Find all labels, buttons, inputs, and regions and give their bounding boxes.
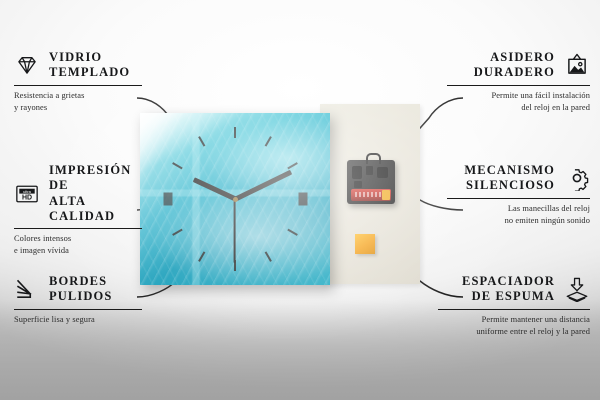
clock-mechanism <box>347 160 395 204</box>
title-rule <box>447 85 590 86</box>
feature-title: ESPACIADOR DE ESPUMA <box>462 274 555 305</box>
feature-espaciador-de-espuma: ESPACIADOR DE ESPUMA Permite mantener un… <box>438 274 590 338</box>
feature-subtitle: Permite una fácil instalación del reloj … <box>447 90 590 114</box>
foam-spacer-icon <box>564 276 590 302</box>
feature-title: VIDRIO TEMPLADO <box>49 50 130 81</box>
title-rule <box>447 198 590 199</box>
feature-subtitle: Resistencia a grietas y rayones <box>14 90 142 114</box>
mechanism-hanger <box>366 153 381 164</box>
glass-wall-clock <box>140 113 330 285</box>
svg-text:HD: HD <box>22 194 32 201</box>
title-rule <box>14 85 142 86</box>
product-group <box>140 104 420 290</box>
feature-subtitle: Permite mantener una distancia uniforme … <box>438 314 590 338</box>
feature-subtitle: Superficie lisa y segura <box>14 314 142 326</box>
clock-center-cap <box>233 197 238 202</box>
feature-title: BORDES PULIDOS <box>49 274 112 305</box>
feature-vidrio-templado: VIDRIO TEMPLADO Resistencia a grietas y … <box>14 50 142 114</box>
svg-text:ultra: ultra <box>23 188 32 193</box>
hanging-picture-icon <box>564 52 590 78</box>
title-rule <box>14 228 142 229</box>
clock-second-hand <box>234 199 236 263</box>
feature-subtitle: Colores intensos e imagen vívida <box>14 233 142 257</box>
feature-bordes-pulidos: BORDES PULIDOS Superficie lisa y segura <box>14 274 142 326</box>
feature-impresion-alta-calidad: ultra HD IMPRESIÓN DE ALTA CALIDAD Color… <box>14 163 142 257</box>
feature-asidero-duradero: ASIDERO DURADERO Permite una fácil insta… <box>447 50 590 114</box>
feature-title: MECANISMO SILENCIOSO <box>464 163 555 194</box>
title-rule <box>438 309 590 310</box>
foam-spacer <box>355 234 375 254</box>
feature-title: ASIDERO DURADERO <box>474 50 555 81</box>
feature-mecanismo-silencioso: MECANISMO SILENCIOSO Las manecillas del … <box>447 163 590 227</box>
polished-edges-icon <box>14 276 40 302</box>
product-infographic: VIDRIO TEMPLADO Resistencia a grietas y … <box>0 0 600 400</box>
ultra-hd-icon: ultra HD <box>14 181 40 207</box>
diamond-icon <box>14 52 40 78</box>
feature-title: IMPRESIÓN DE ALTA CALIDAD <box>49 163 142 224</box>
feature-subtitle: Las manecillas del reloj no emiten ningú… <box>447 203 590 227</box>
gear-icon <box>564 165 590 191</box>
battery <box>351 189 391 201</box>
title-rule <box>14 309 142 310</box>
